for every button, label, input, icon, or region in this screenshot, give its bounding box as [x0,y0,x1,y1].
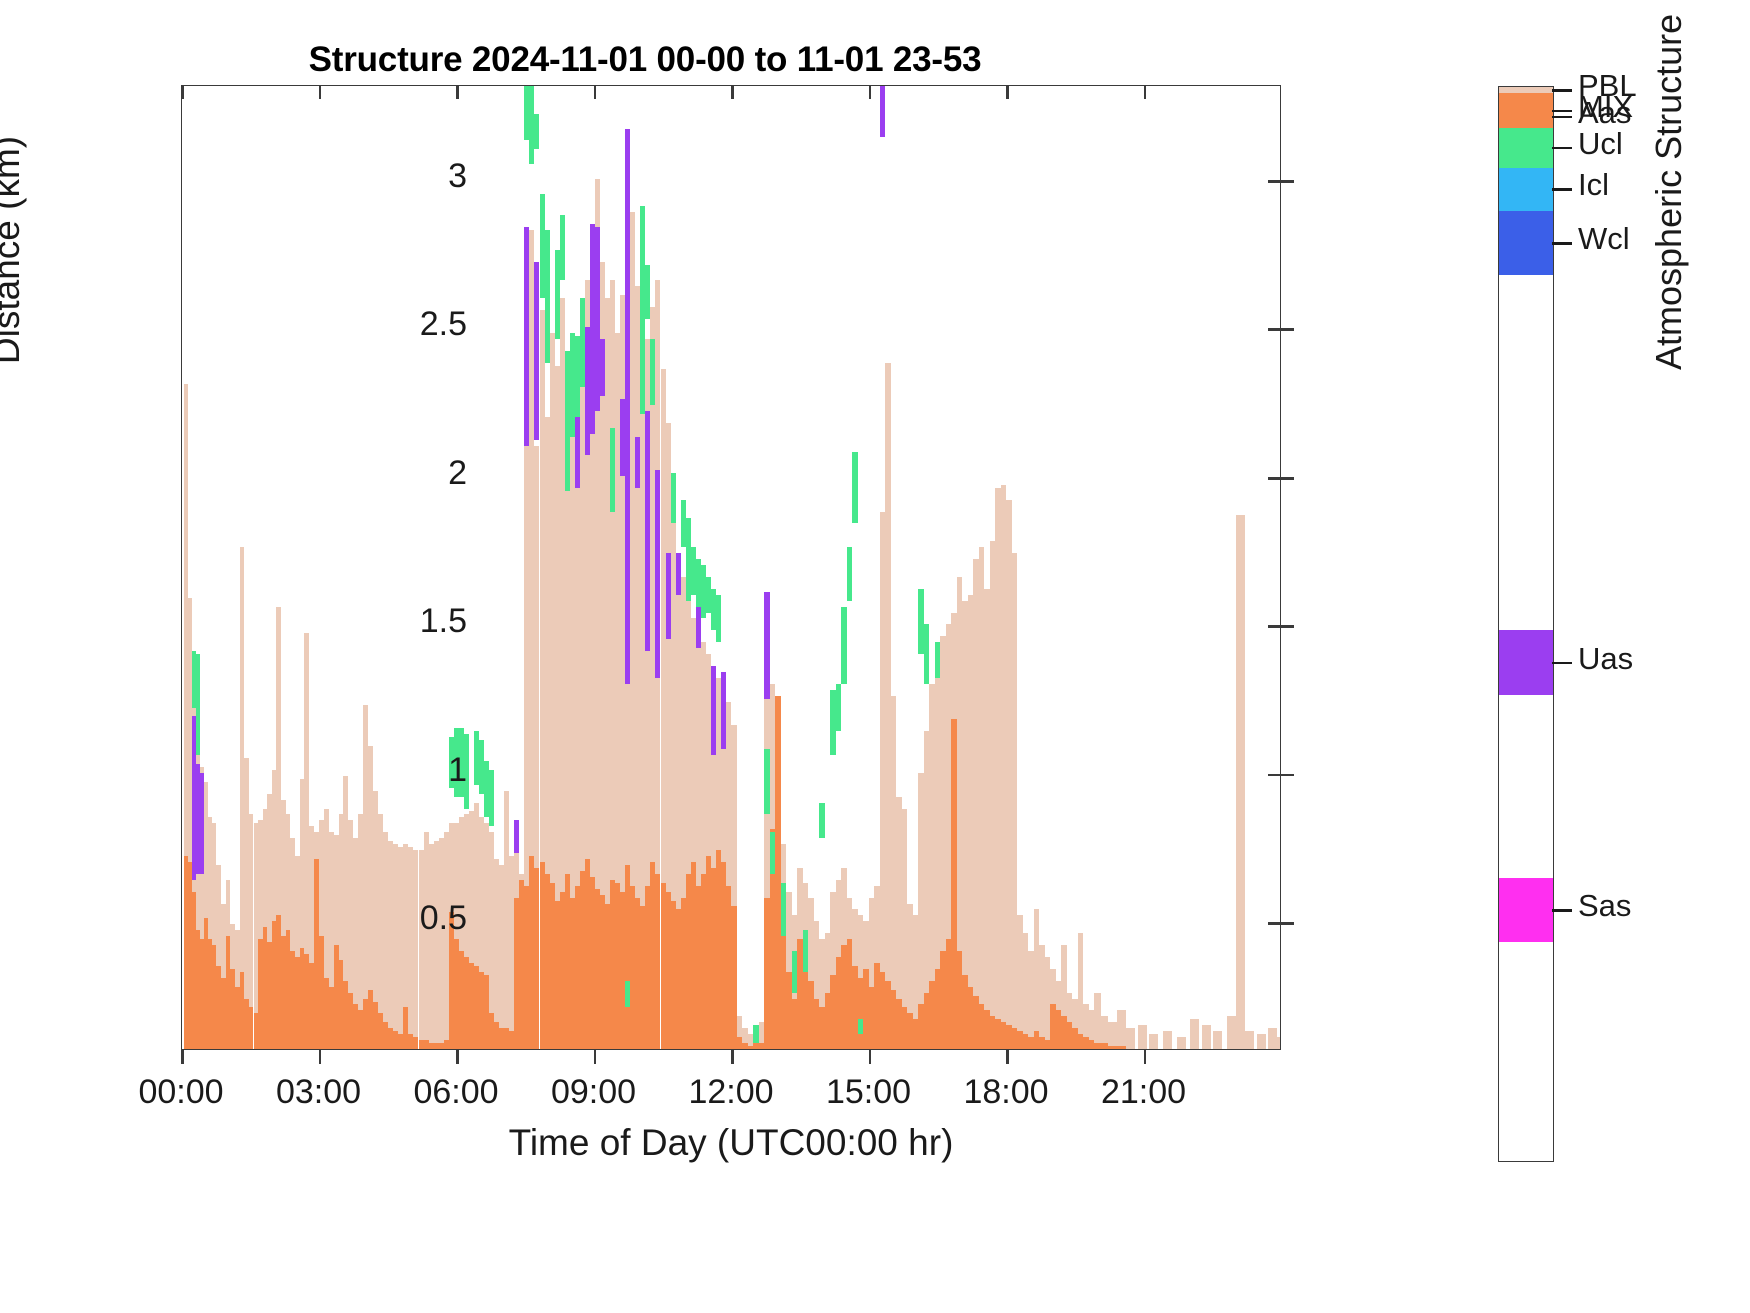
segment-pbl [1245,1031,1254,1049]
profile-column [1227,86,1236,1049]
y-tick-mark-right [1268,477,1281,480]
colorbar-tick [1552,89,1572,92]
x-tick-mark-top [594,85,597,99]
profile-column [1108,86,1117,1049]
y-tick-mark-right [1268,328,1281,331]
profile-column [1277,86,1281,1049]
x-tick-label: 21:00 [1044,1073,1244,1112]
profile-column [1138,86,1147,1049]
profile-column [1236,86,1245,1049]
colorbar-swatch-sas[interactable] [1499,878,1553,943]
profile-column [1101,86,1108,1049]
profile-column [1257,86,1266,1049]
x-tick-mark-top [319,85,322,99]
x-tick-mark-top [456,85,459,99]
x-tick-mark-top [731,85,734,99]
y-tick-mark-right [1268,774,1281,777]
profile-column [1149,86,1158,1049]
colorbar-swatch-pbl[interactable] [1499,87,1553,93]
y-tick-mark-right [1268,625,1281,628]
page-title: Structure 2024-11-01 00-00 to 11-01 23-5… [0,40,1290,80]
y-tick-label: 1.5 [347,602,467,641]
colorbar-label-icl: Icl [1578,167,1609,203]
x-tick-mark-top [181,85,184,99]
profile-column [1117,86,1126,1049]
y-tick-label: 3 [347,157,467,196]
colorbar-tick [1552,188,1572,191]
x-tick-mark-top [1006,85,1009,99]
y-tick-label: 2.5 [347,305,467,344]
segment-pbl [1268,1028,1277,1049]
segment-mix [1101,1043,1108,1049]
colorbar-label-pbl: PBL [1578,68,1637,104]
x-tick-mark [181,1050,184,1064]
figure-root: Structure 2024-11-01 00-00 to 11-01 23-5… [0,0,1750,1313]
segment-pbl [1149,1034,1158,1049]
colorbar-tick [1552,662,1572,665]
segment-pbl [1177,1037,1186,1049]
segment-pbl [1117,1010,1126,1049]
y-tick-mark [1281,922,1294,925]
colorbar-tick [1552,116,1572,119]
segment-pbl [1202,1025,1211,1049]
profile-column [1126,86,1135,1049]
y-tick-mark [1281,328,1294,331]
x-tick-mark [1144,1050,1147,1064]
profile-column [1245,86,1254,1049]
segment-pbl [1213,1031,1222,1049]
colorbar-swatch-uas[interactable] [1499,630,1553,695]
colorbar-tick [1552,110,1572,113]
colorbar-tick [1552,147,1572,150]
profile-column [1177,86,1186,1049]
profile-column [1190,86,1199,1049]
segment-mix [1094,1043,1101,1049]
segment-mix [1108,1046,1117,1049]
y-tick-label: 1 [347,751,467,790]
y-tick-label: 0.5 [347,899,467,938]
x-tick-mark [869,1050,872,1064]
colorbar-tick [1552,242,1572,245]
colorbar-swatch-icl[interactable] [1499,168,1553,211]
y-tick-mark-right [1268,922,1281,925]
segment-pbl [1126,1028,1135,1049]
colorbar[interactable] [1498,86,1554,1162]
profile-column [1094,86,1101,1049]
segment-pbl [1163,1031,1172,1049]
y-tick-mark-right [1268,180,1281,183]
colorbar-label-ucl: Ucl [1578,126,1623,162]
segment-pbl [1227,1016,1236,1049]
colorbar-title: Atmospheric Structure [1648,0,1690,370]
segment-pbl [1277,1037,1281,1049]
profile-column [1163,86,1172,1049]
y-tick-mark [1281,180,1294,183]
x-tick-mark [1006,1050,1009,1064]
x-tick-mark [319,1050,322,1064]
x-tick-mark-top [1144,85,1147,99]
colorbar-swatch-ucl[interactable] [1499,128,1553,168]
segment-mix [1117,1046,1126,1049]
segment-pbl [1094,993,1101,1049]
segment-pbl [1236,515,1245,1049]
colorbar-swatch-mix[interactable] [1499,93,1553,127]
colorbar-label-wcl: Wcl [1578,221,1630,257]
y-tick-mark [1281,774,1294,777]
segment-pbl [1108,1022,1117,1049]
profile-column [1268,86,1277,1049]
colorbar-label-uas: Uas [1578,641,1633,677]
x-tick-mark [731,1050,734,1064]
plot-area[interactable] [181,85,1281,1050]
y-tick-label: 2 [347,454,467,493]
segment-pbl [1257,1034,1266,1049]
x-tick-mark-top [869,85,872,99]
segment-pbl [1138,1025,1147,1049]
segment-pbl [1190,1019,1199,1049]
y-axis-label: Distance (km) [0,40,28,460]
y-tick-mark [1281,477,1294,480]
x-axis-label: Time of Day (UTC00:00 hr) [181,1122,1281,1164]
colorbar-tick [1552,909,1572,912]
colorbar-swatch-wcl[interactable] [1499,211,1553,276]
profile-column [1213,86,1222,1049]
x-tick-mark [594,1050,597,1064]
profile-column [1202,86,1211,1049]
colorbar-label-sas: Sas [1578,888,1631,924]
x-tick-mark [456,1050,459,1064]
y-tick-mark [1281,625,1294,628]
